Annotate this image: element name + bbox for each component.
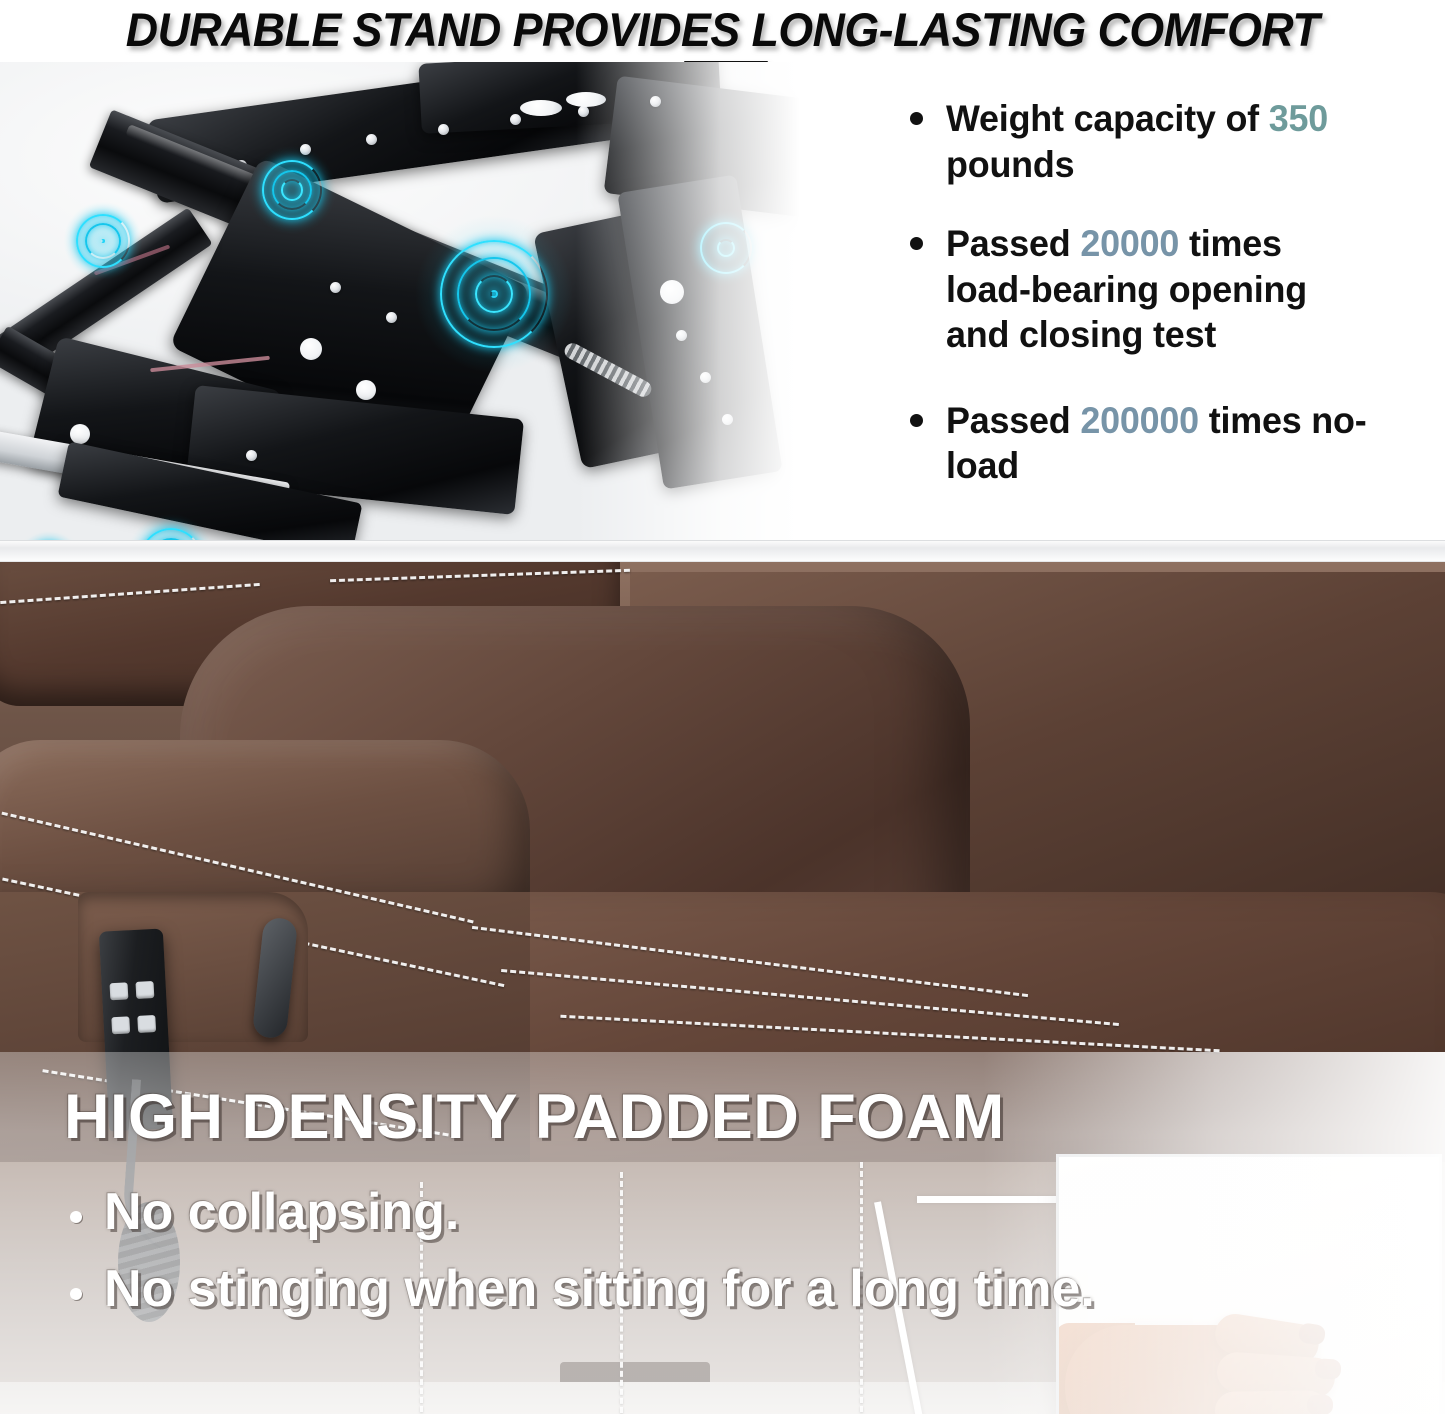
spec-bullet-highlight: 200000	[1080, 400, 1199, 441]
bullet-dot-icon	[70, 1211, 82, 1223]
spec-bullet-prefix: Weight capacity of	[946, 98, 1269, 139]
section-divider	[0, 540, 1445, 562]
foam-callout-text: HIGH DENSITY PADDED FOAM No collapsing. …	[64, 1086, 1404, 1339]
tech-glow-ring-icon	[700, 222, 752, 274]
top-section: DURABLE STAND PROVIDES LONG-LASTING COMF…	[0, 0, 1445, 546]
list-item: No stinging when sitting for a long time…	[64, 1262, 1404, 1317]
tech-glow-ring-icon	[140, 528, 202, 540]
foam-benefit-label: No stinging when sitting for a long time…	[104, 1260, 1095, 1318]
tech-glow-ring-icon	[76, 214, 130, 268]
foam-benefit-label: No collapsing.	[104, 1183, 459, 1241]
spec-bullet-highlight: 350	[1269, 98, 1328, 139]
bullet-dot-icon	[910, 237, 923, 250]
bullet-dot-icon	[910, 112, 923, 125]
tech-glow-ring-icon	[262, 160, 322, 220]
list-item: Passed 200000 times no-load	[902, 398, 1382, 489]
product-infographic: DURABLE STAND PROVIDES LONG-LASTING COMF…	[0, 0, 1445, 1414]
spec-bullet-text: Passed 20000 times load-bearing opening …	[946, 221, 1369, 358]
spec-bullet-prefix: Passed	[946, 223, 1080, 264]
bullet-dot-icon	[70, 1288, 82, 1300]
bullet-dot-icon	[910, 414, 923, 427]
foam-benefits-list: No collapsing. No stinging when sitting …	[64, 1185, 1404, 1317]
spec-bullet-prefix: Passed	[946, 400, 1080, 441]
spec-bullet-suffix: pounds	[946, 144, 1074, 185]
foam-section-title: HIGH DENSITY PADDED FOAM	[64, 1086, 1404, 1149]
list-item: No collapsing.	[64, 1185, 1404, 1240]
spec-bullet-list: Weight capacity of 350 pounds Passed 200…	[902, 96, 1382, 523]
mechanism-photo	[0, 62, 800, 540]
tech-glow-ring-icon	[440, 240, 548, 348]
spec-bullet-highlight: 20000	[1080, 223, 1179, 264]
list-item: Weight capacity of 350 pounds	[902, 96, 1382, 187]
page-title: DURABLE STAND PROVIDES LONG-LASTING COMF…	[36, 2, 1409, 57]
list-item: Passed 20000 times load-bearing opening …	[902, 221, 1382, 358]
spec-bullet-text: Weight capacity of 350 pounds	[946, 96, 1369, 187]
spec-bullet-text: Passed 200000 times no-load	[946, 398, 1369, 489]
